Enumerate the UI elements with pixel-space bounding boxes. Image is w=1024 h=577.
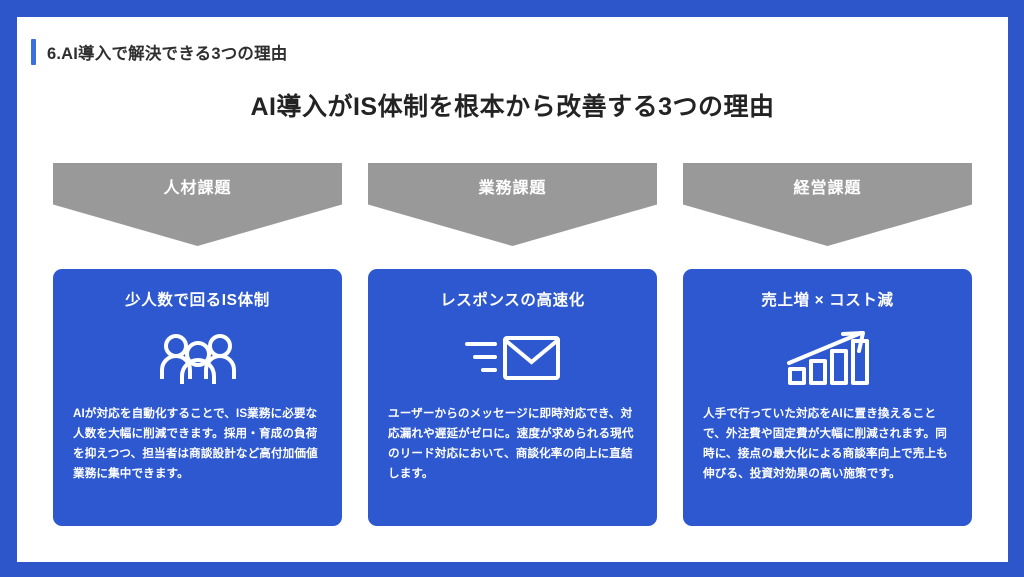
columns-container: 人材課題 少人数で回るIS体制 AIが対応を自動 bbox=[17, 163, 1008, 526]
chevron-banner: 業務課題 bbox=[368, 163, 657, 246]
section-label-row: 6.AI導入で解決できる3つの理由 bbox=[31, 39, 288, 65]
slide-frame: 6.AI導入で解決できる3つの理由 AI導入がIS体制を根本から改善する3つの理… bbox=[0, 0, 1024, 577]
column-経営課題: 経営課題 売上増 × コスト減 人手で行っていた bbox=[683, 163, 972, 526]
card-body: ユーザーからのメッセージに即時対応でき、対応漏れや遅延がゼロに。速度が求められる… bbox=[388, 404, 637, 484]
card-body: 人手で行っていた対応をAIに置き換えることで、外注費や固定費が大幅に削減されます… bbox=[703, 404, 952, 484]
slide-canvas: 6.AI導入で解決できる3つの理由 AI導入がIS体制を根本から改善する3つの理… bbox=[17, 17, 1008, 562]
chevron-label: 人材課題 bbox=[53, 163, 342, 208]
chevron-banner: 人材課題 bbox=[53, 163, 342, 246]
chevron-label: 経営課題 bbox=[683, 163, 972, 208]
benefit-card[interactable]: 少人数で回るIS体制 AIが対応を自動化することで、IS業務に必要な人数を大幅に… bbox=[53, 269, 342, 526]
chevron-label: 業務課題 bbox=[368, 163, 657, 208]
fast-mail-icon bbox=[465, 330, 561, 386]
column-人材課題: 人材課題 少人数で回るIS体制 AIが対応を自動 bbox=[53, 163, 342, 526]
section-label: 6.AI導入で解決できる3つの理由 bbox=[47, 40, 288, 64]
card-title: レスポンスの高速化 bbox=[440, 291, 585, 311]
growth-chart-icon bbox=[785, 330, 871, 386]
people-group-icon bbox=[157, 330, 239, 386]
card-title: 売上増 × コスト減 bbox=[761, 291, 893, 311]
accent-bar bbox=[31, 39, 36, 65]
page-title: AI導入がIS体制を根本から改善する3つの理由 bbox=[17, 87, 1008, 123]
card-title: 少人数で回るIS体制 bbox=[125, 291, 270, 311]
benefit-card[interactable]: レスポンスの高速化 ユーザーからのメッセージに即時対応でき、対応漏れや遅延がゼロ… bbox=[368, 269, 657, 526]
column-業務課題: 業務課題 レスポンスの高速化 ユーザーからのメッセージに即時対応でき、対応漏れ bbox=[368, 163, 657, 526]
benefit-card[interactable]: 売上増 × コスト減 人手で行っていた対応をAIに置き換えることで、外注費や固定… bbox=[683, 269, 972, 526]
card-body: AIが対応を自動化することで、IS業務に必要な人数を大幅に削減できます。採用・育… bbox=[73, 404, 322, 484]
chevron-banner: 経営課題 bbox=[683, 163, 972, 246]
